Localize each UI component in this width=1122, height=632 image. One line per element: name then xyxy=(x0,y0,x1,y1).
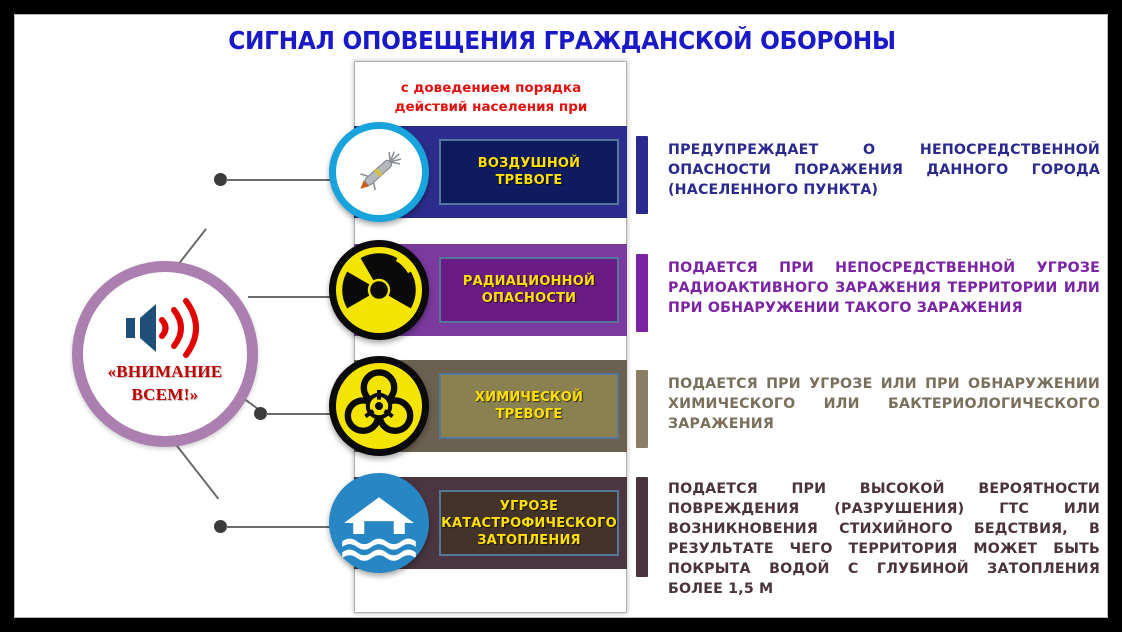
connector-line-1 xyxy=(226,179,339,181)
missile-icon xyxy=(329,122,429,222)
row-description: ПОДАЕТСЯ ПРИ УГРОЗЕ ИЛИ ПРИ ОБНАРУЖЕНИИ … xyxy=(668,374,1100,434)
row-description: ПОДАЕТСЯ ПРИ НЕПОСРЕДСТВЕННОЙ УГРОЗЕ РАД… xyxy=(668,258,1100,318)
signal-row-air-raid[interactable]: ВОЗДУШНОЙ ТРЕВОГЕ ПРЕДУПРЕЖДАЕТ О НЕПОСР… xyxy=(354,126,627,218)
row-description: ПРЕДУПРЕЖДАЕТ О НЕПОСРЕДСТВЕННОЙ ОПАСНОС… xyxy=(668,140,1100,200)
row-accent-bar xyxy=(636,136,648,214)
slide-root: СИГНАЛ ОПОВЕЩЕНИЯ ГРАЖДАНСКОЙ ОБОРОНЫ с … xyxy=(0,0,1122,632)
row-accent-bar xyxy=(636,254,648,332)
attention-label: «ВНИМАНИЕ ВСЕМ!» xyxy=(83,360,247,406)
signal-row-chemical[interactable]: ХИМИЧЕСКОЙ ТРЕВОГЕ ПОДАЕТСЯ ПРИ УГРОЗЕ И… xyxy=(354,360,627,452)
subtitle: с доведением порядка действий населения … xyxy=(360,79,622,117)
signal-row-radiation[interactable]: РАДИАЦИОННОЙ ОПАСНОСТИ xyxy=(354,244,627,336)
row-accent-bar xyxy=(636,477,648,577)
row-label-plate: УГРОЗЕ КАТАСТРОФИЧЕСКОГО ЗАТОПЛЕНИЯ xyxy=(439,490,619,556)
row-accent-bar xyxy=(636,370,648,448)
loudspeaker-icon xyxy=(83,298,247,363)
flood-icon xyxy=(329,473,429,573)
slide-canvas: СИГНАЛ ОПОВЕЩЕНИЯ ГРАЖДАНСКОЙ ОБОРОНЫ с … xyxy=(14,14,1108,618)
signal-row-flood[interactable]: УГРОЗЕ КАТАСТРОФИЧЕСКОГО ЗАТОПЛЕНИЯ ПОДА… xyxy=(354,477,627,569)
row-description: ПОДАЕТСЯ ПРИ ВЫСОКОЙ ВЕРОЯТНОСТИ ПОВРЕЖД… xyxy=(668,479,1100,599)
radiation-icon xyxy=(329,240,429,340)
row-label-plate: ВОЗДУШНОЙ ТРЕВОГЕ xyxy=(439,139,619,205)
row-label-plate: РАДИАЦИОННОЙ ОПАСНОСТИ xyxy=(439,257,619,323)
connector-line-4 xyxy=(226,526,341,528)
row-label-plate: ХИМИЧЕСКОЙ ТРЕВОГЕ xyxy=(439,373,619,439)
biohazard-icon xyxy=(329,356,429,456)
attention-hub-circle[interactable]: «ВНИМАНИЕ ВСЕМ!» xyxy=(72,261,258,447)
page-title: СИГНАЛ ОПОВЕЩЕНИЯ ГРАЖДАНСКОЙ ОБОРОНЫ xyxy=(53,26,1070,55)
